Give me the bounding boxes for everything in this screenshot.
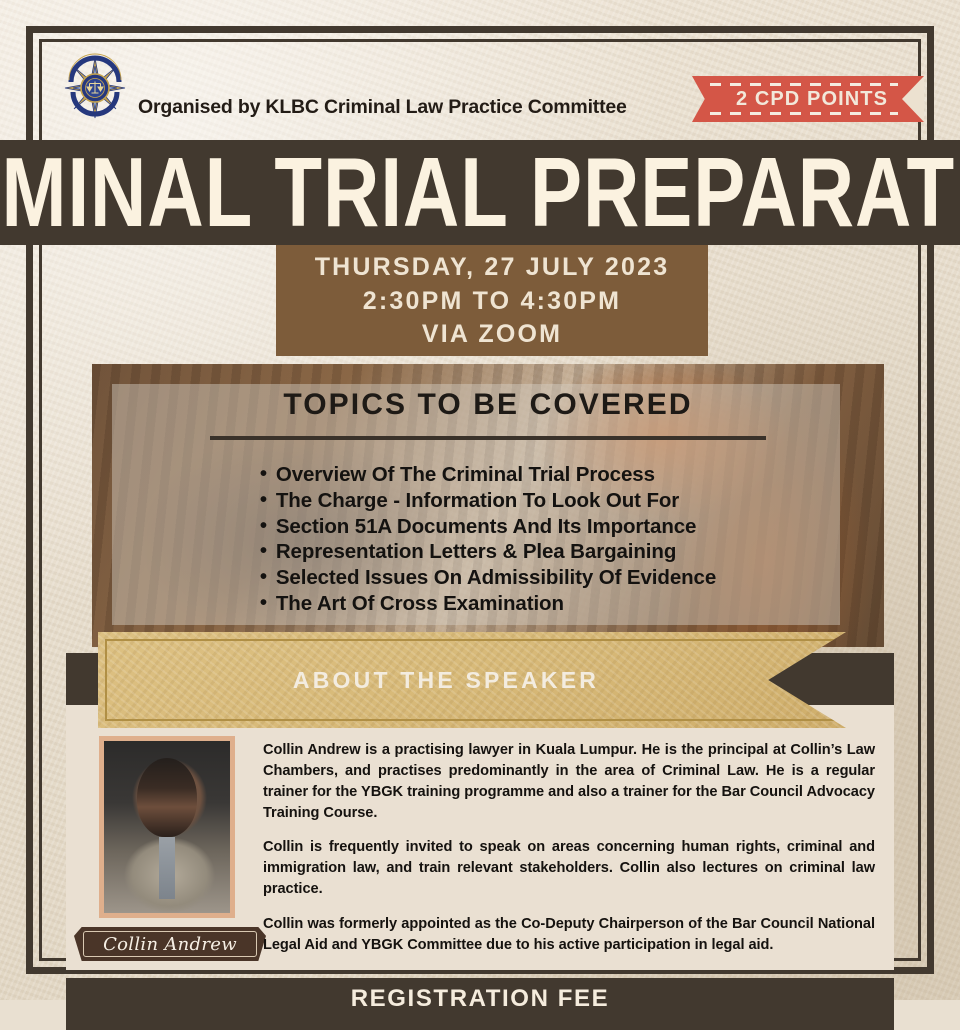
bio-paragraph: Collin was formerly appointed as the Co-… xyxy=(263,914,875,956)
list-item: The Art Of Cross Examination xyxy=(260,591,716,617)
event-time: 2:30PM TO 4:30PM xyxy=(363,285,621,319)
list-item: Section 51A Documents And Its Importance xyxy=(260,514,716,540)
event-platform: VIA ZOOM xyxy=(422,318,562,352)
topics-list: Overview Of The Criminal Trial Process T… xyxy=(260,462,716,617)
topics-divider xyxy=(210,436,766,440)
cpd-points-label: 2 CPD POINTS xyxy=(736,88,888,111)
list-item: Representation Letters & Plea Bargaining xyxy=(260,539,716,565)
list-item: Overview Of The Criminal Trial Process xyxy=(260,462,716,488)
bio-paragraph: Collin Andrew is a practising lawyer in … xyxy=(263,740,875,823)
about-speaker-ribbon: ABOUT THE SPEAKER xyxy=(98,632,846,728)
speaker-photo xyxy=(99,736,235,918)
ribbon-dash-top xyxy=(710,83,898,86)
event-details-box: THURSDAY, 27 JULY 2023 2:30PM TO 4:30PM … xyxy=(276,245,708,356)
topics-section: TOPICS TO BE COVERED Overview Of The Cri… xyxy=(92,364,884,647)
speaker-name: Collin Andrew xyxy=(103,934,237,955)
bio-paragraph: Collin is frequently invited to speak on… xyxy=(263,837,875,900)
page-title: CRIMINAL TRIAL PREPARATION xyxy=(0,144,960,242)
about-speaker-heading: ABOUT THE SPEAKER xyxy=(293,667,599,694)
title-band: CRIMINAL TRIAL PREPARATION xyxy=(0,140,960,245)
registration-fee-bar: REGISTRATION FEE xyxy=(66,978,894,1030)
speaker-portrait-image xyxy=(104,741,230,913)
topics-heading: TOPICS TO BE COVERED xyxy=(283,388,692,422)
ribbon-dash-bottom xyxy=(710,112,898,115)
list-item: The Charge - Information To Look Out For xyxy=(260,488,716,514)
registration-fee-heading: REGISTRATION FEE xyxy=(351,985,610,1030)
speaker-bio: Collin Andrew is a practising lawyer in … xyxy=(263,740,875,956)
klbc-emblem-icon xyxy=(62,48,128,132)
organiser-text: Organised by KLBC Criminal Law Practice … xyxy=(138,96,627,119)
cpd-points-ribbon: 2 CPD POINTS xyxy=(692,76,924,122)
event-date: THURSDAY, 27 JULY 2023 xyxy=(315,251,670,285)
list-item: Selected Issues On Admissibility Of Evid… xyxy=(260,565,716,591)
speaker-name-badge: Collin Andrew xyxy=(74,927,266,961)
